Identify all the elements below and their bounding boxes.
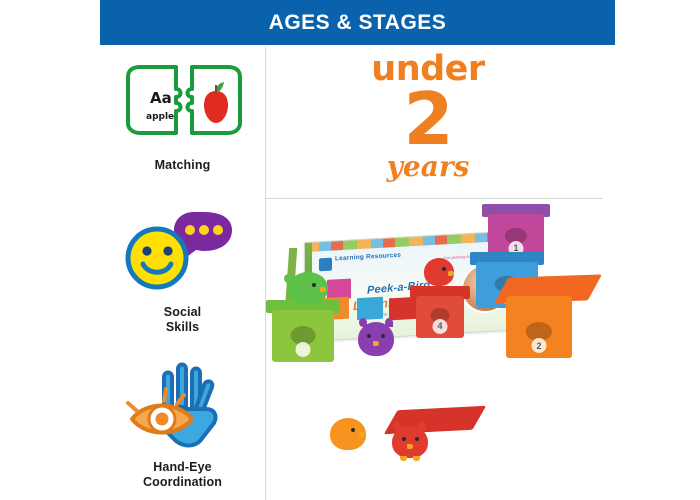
toy-bird-orange <box>330 418 366 450</box>
svg-text:apple: apple <box>146 112 174 122</box>
skill-label-handeye-line2: Coordination <box>100 475 265 490</box>
bird-tuft-red-right <box>418 421 426 430</box>
hand-eye-artwork <box>108 357 258 452</box>
matching-artwork: Aa apple <box>108 55 258 150</box>
bird-eye-red-top <box>442 267 446 271</box>
skill-label-social-skills: Social Skills <box>100 305 265 335</box>
brand-name: Learning Resources <box>335 252 401 263</box>
bird-eye-red-left <box>402 437 406 441</box>
social-skills-artwork <box>108 202 258 297</box>
bird-eye-purple-left <box>367 334 371 338</box>
house-number-green <box>296 342 311 357</box>
skill-item-matching: Aa apple Matching <box>100 55 265 173</box>
bird-beak-purple <box>373 341 379 346</box>
product-photo: Learning Resources Fun peeking fun! 18+ … <box>266 200 700 500</box>
skill-label-matching: Matching <box>100 158 265 173</box>
bird-beak-green <box>320 287 326 292</box>
toy-house-red: 4 <box>416 286 464 338</box>
package-art-house-red <box>389 297 417 321</box>
toy-house-orange: 2 <box>506 296 572 358</box>
house-number-orange: 2 <box>532 338 547 353</box>
age-panel: under 2 years <box>266 47 615 198</box>
bird-beak-orange <box>359 432 365 437</box>
bird-tuft-green <box>284 274 292 283</box>
smiley-speech-bubble-icon <box>122 206 244 301</box>
toy-bird-red-front <box>392 426 428 458</box>
skill-label-hand-eye: Hand-Eye Coordination <box>100 460 265 490</box>
package-art-house-teal <box>357 297 383 320</box>
toy-house-green <box>272 300 334 362</box>
bird-beak-red-top <box>448 271 454 276</box>
bird-feet-red-2 <box>413 456 420 461</box>
house-number-red: 4 <box>433 319 448 334</box>
skill-item-social-skills: Social Skills <box>100 202 265 335</box>
bird-tuft-purple-left <box>359 318 367 327</box>
skill-item-hand-eye-coordination: Hand-Eye Coordination <box>100 357 265 490</box>
skill-label-social-line2: Skills <box>100 320 265 335</box>
bird-feet-red <box>400 456 407 461</box>
bird-tuft-red-left <box>393 421 401 430</box>
learning-resources-cube-icon <box>319 258 332 272</box>
bird-body-red-front <box>392 426 428 458</box>
puzzle-pieces-icon: Aa apple <box>120 63 248 150</box>
age-text-stack: under 2 years <box>318 51 538 182</box>
bird-eye-orange <box>351 428 355 432</box>
skills-column: Aa apple Matching <box>100 47 265 500</box>
hand-eye-icon <box>120 361 246 458</box>
svg-text:Aa: Aa <box>150 89 172 107</box>
skill-label-handeye-line1: Hand-Eye <box>100 460 265 475</box>
toy-bird-red-on-house <box>424 258 454 286</box>
bird-tuft-purple-right <box>385 318 393 327</box>
page-title: AGES & STAGES <box>269 11 447 35</box>
header-banner: AGES & STAGES <box>100 0 615 45</box>
bird-beak-red-front <box>407 444 413 449</box>
toy-bird-green <box>288 272 328 304</box>
bird-eye-green <box>312 283 316 287</box>
skill-label-social-line1: Social <box>100 305 265 320</box>
bird-body-purple <box>358 322 394 356</box>
horizontal-divider <box>265 198 603 199</box>
age-number: 2 <box>318 88 538 150</box>
age-line-years: years <box>318 152 538 182</box>
toy-bird-purple <box>358 322 394 356</box>
bird-eye-red-right <box>415 437 419 441</box>
bird-eye-purple-right <box>381 334 385 338</box>
